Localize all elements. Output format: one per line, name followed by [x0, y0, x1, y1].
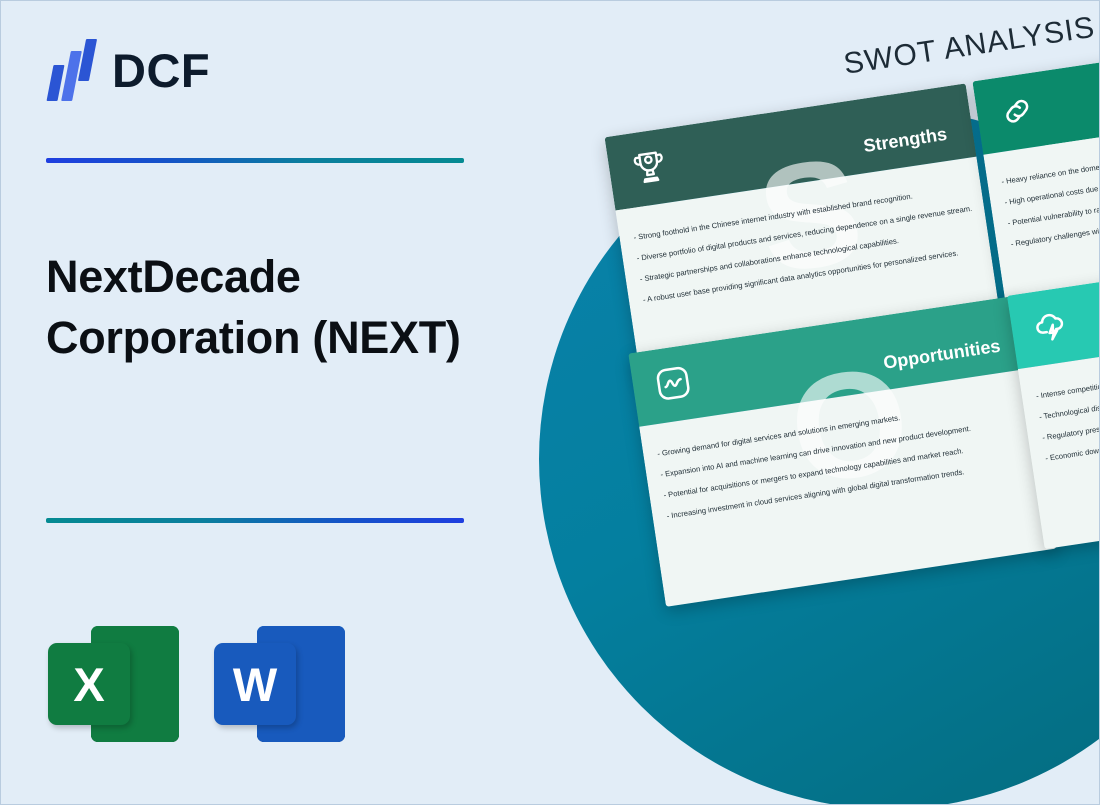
opportunities-list: - Growing demand for digital services an… [657, 396, 1030, 520]
left-pane: DCF NextDecade Corporation (NEXT) X W [1, 1, 561, 805]
page-title: NextDecade Corporation (NEXT) [46, 246, 476, 368]
excel-badge-letter: X [48, 643, 130, 725]
pulse-chart-icon [650, 361, 695, 406]
opportunities-title: Opportunities [882, 336, 1002, 374]
brand-name: DCF [112, 47, 210, 94]
brand-logo[interactable]: DCF [46, 39, 210, 101]
weaknesses-list: - Heavy reliance on the domesti - High o… [1001, 132, 1100, 248]
excel-file-icon[interactable]: X [48, 623, 182, 745]
slide-frame: DCF NextDecade Corporation (NEXT) X W SW… [0, 0, 1100, 805]
storm-cloud-icon [1029, 303, 1074, 348]
chain-link-icon [995, 88, 1040, 133]
trophy-icon [627, 144, 672, 189]
word-file-icon[interactable]: W [214, 623, 348, 745]
strengths-title: Strengths [862, 124, 948, 157]
divider-top [46, 158, 464, 163]
divider-bottom [46, 518, 464, 523]
strengths-list: - Strong foothold in the Chinese interne… [633, 184, 977, 304]
word-badge-letter: W [214, 643, 296, 725]
dcf-bars-logo-icon [46, 39, 98, 101]
file-type-list: X W [48, 623, 348, 745]
